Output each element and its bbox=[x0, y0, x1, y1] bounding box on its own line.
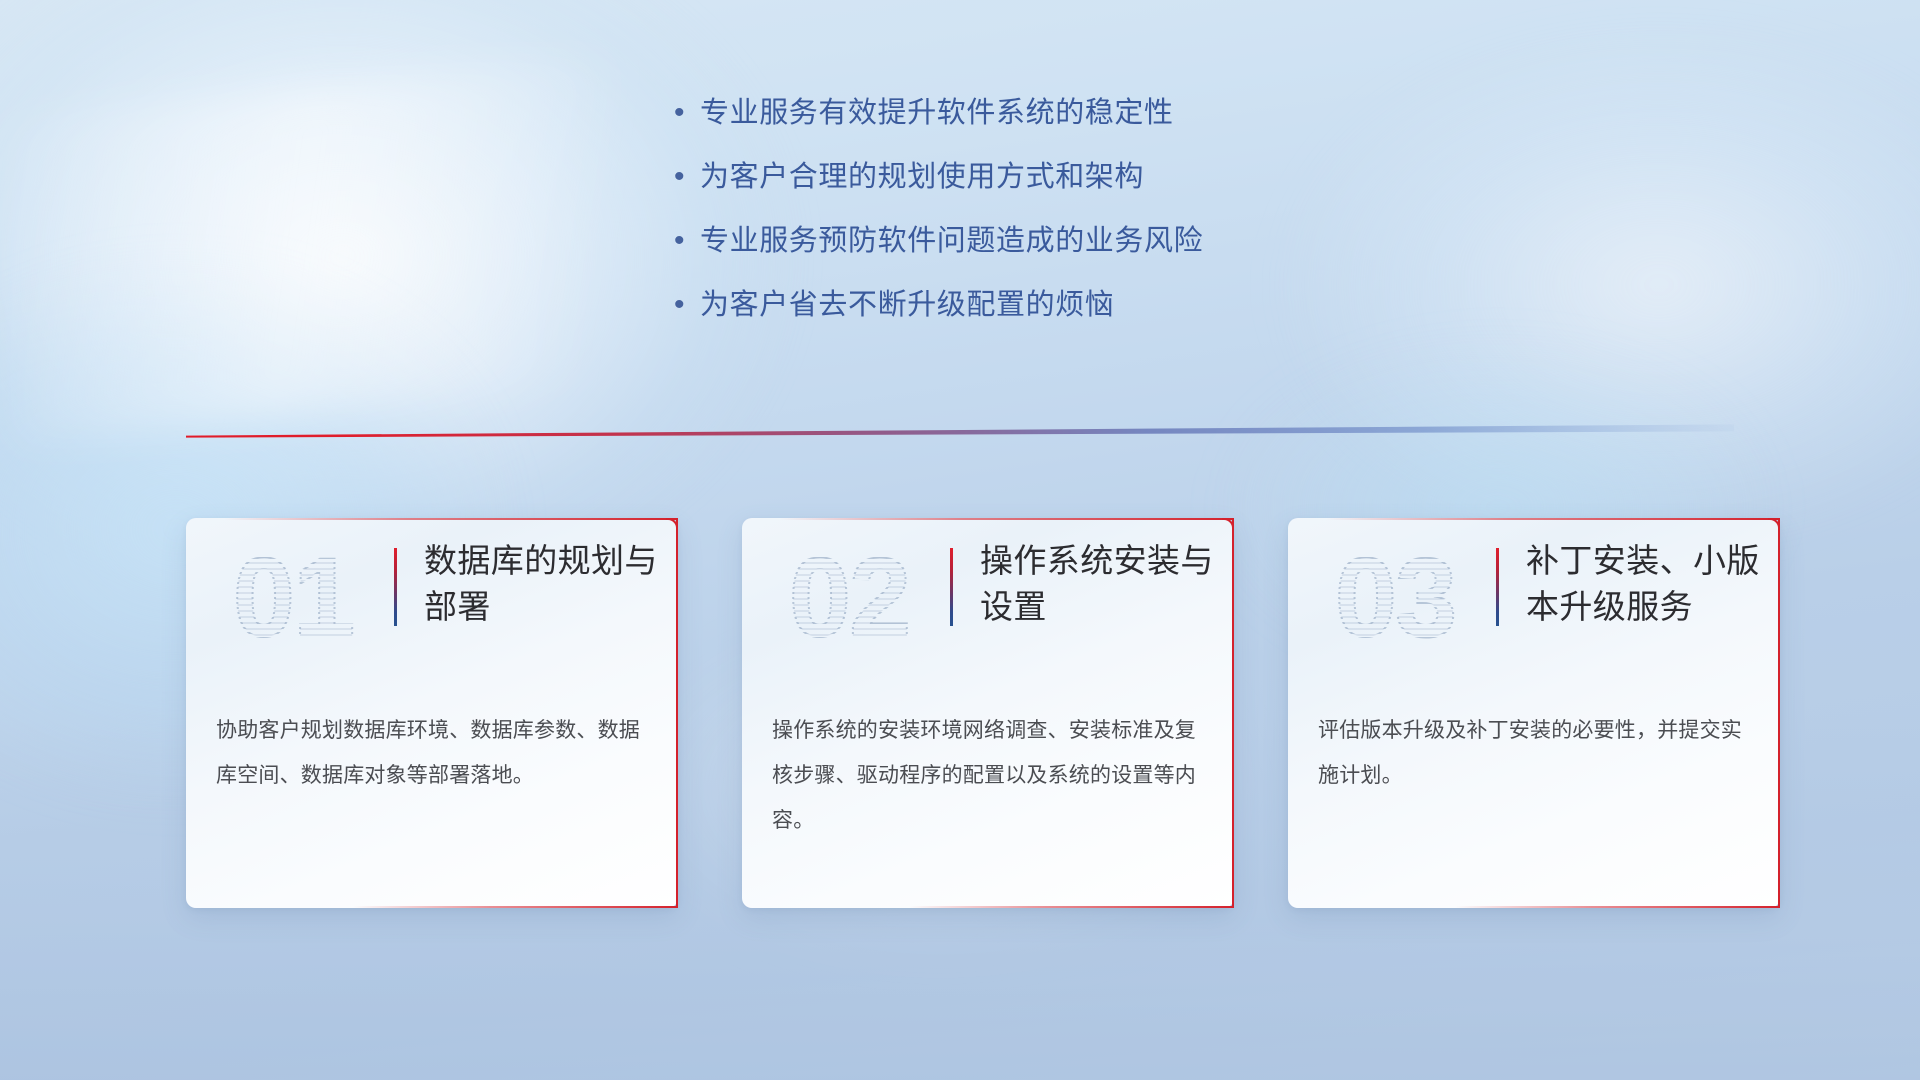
card-accent-corner bbox=[666, 518, 678, 530]
card-accent-top bbox=[1327, 518, 1780, 520]
card-description: 评估版本升级及补丁安装的必要性，并提交实施计划。 bbox=[1318, 708, 1748, 798]
card-accent-corner bbox=[1222, 518, 1234, 530]
card-header: 01 01 数据库的规划与部署 bbox=[186, 536, 678, 666]
bullet-dot-icon: • bbox=[672, 96, 700, 130]
service-card-02[interactable]: 02 02 操作系统安装与设置 操作系统的安装环境网络调查、安装标准及复核步骤、… bbox=[742, 518, 1234, 908]
bullet-item-label: 专业服务预防软件问题造成的业务风险 bbox=[700, 224, 1203, 258]
benefits-bullet-list: • 专业服务有效提升软件系统的稳定性 • 为客户合理的规划使用方式和架构 • 专… bbox=[672, 96, 1392, 352]
card-accent-corner bbox=[1768, 518, 1780, 530]
card-title-accent-bar bbox=[950, 548, 953, 626]
list-item: • 专业服务预防软件问题造成的业务风险 bbox=[672, 224, 1392, 288]
card-description: 操作系统的安装环境网络调查、安装标准及复核步骤、驱动程序的配置以及系统的设置等内… bbox=[772, 708, 1202, 843]
card-title: 操作系统安装与设置 bbox=[980, 538, 1220, 630]
bullet-dot-icon: • bbox=[672, 160, 700, 194]
card-accent-bottom bbox=[909, 906, 1234, 908]
bullet-item-label: 为客户合理的规划使用方式和架构 bbox=[700, 160, 1144, 194]
list-item: • 专业服务有效提升软件系统的稳定性 bbox=[672, 96, 1392, 160]
card-accent-bottom bbox=[353, 906, 678, 908]
background-light-streak bbox=[0, 53, 668, 443]
card-number-watermark: 03 bbox=[1310, 532, 1480, 664]
service-card-03[interactable]: 03 03 补丁安装、小版本升级服务 评估版本升级及补丁安装的必要性，并提交实施… bbox=[1288, 518, 1780, 908]
card-title: 补丁安装、小版本升级服务 bbox=[1526, 538, 1766, 630]
card-title-accent-bar bbox=[394, 548, 397, 626]
card-header: 03 03 补丁安装、小版本升级服务 bbox=[1288, 536, 1780, 666]
bullet-item-label: 专业服务有效提升软件系统的稳定性 bbox=[700, 96, 1174, 130]
service-cards: 01 01 数据库的规划与部署 协助客户规划数据库环境、数据库参数、数据库空间、… bbox=[0, 518, 1920, 918]
service-card-01[interactable]: 01 01 数据库的规划与部署 协助客户规划数据库环境、数据库参数、数据库空间、… bbox=[186, 518, 678, 908]
card-accent-top bbox=[781, 518, 1234, 520]
card-description: 协助客户规划数据库环境、数据库参数、数据库空间、数据库对象等部署落地。 bbox=[216, 708, 646, 798]
section-divider-shape bbox=[186, 424, 1734, 444]
card-accent-top bbox=[225, 518, 678, 520]
card-accent-bottom bbox=[1455, 906, 1780, 908]
card-header: 02 02 操作系统安装与设置 bbox=[742, 536, 1234, 666]
card-number-watermark: 02 bbox=[764, 532, 934, 664]
bullet-dot-icon: • bbox=[672, 288, 700, 322]
list-item: • 为客户省去不断升级配置的烦恼 bbox=[672, 288, 1392, 352]
card-title-accent-bar bbox=[1496, 548, 1499, 626]
section-divider bbox=[186, 424, 1734, 444]
bullet-dot-icon: • bbox=[672, 224, 700, 258]
bullet-item-label: 为客户省去不断升级配置的烦恼 bbox=[700, 288, 1114, 322]
list-item: • 为客户合理的规划使用方式和架构 bbox=[672, 160, 1392, 224]
card-number-watermark: 01 bbox=[208, 532, 378, 664]
card-title: 数据库的规划与部署 bbox=[424, 538, 664, 630]
